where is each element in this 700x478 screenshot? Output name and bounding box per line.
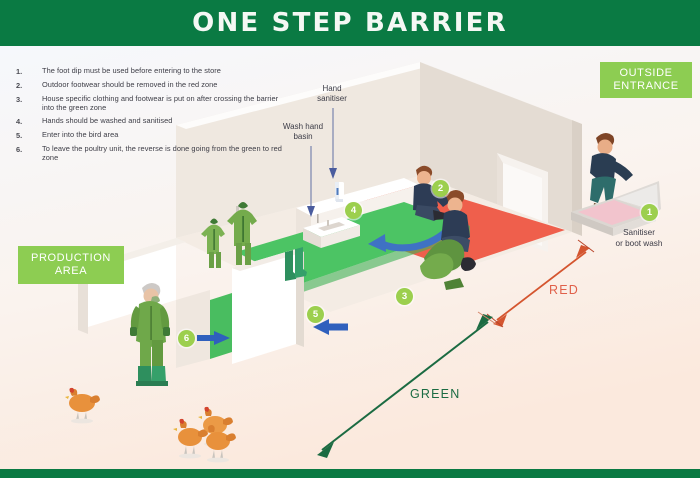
partition-left-face	[176, 290, 210, 368]
step-number: 3.	[16, 94, 42, 112]
list-item: 5. Enter into the bird area	[16, 130, 284, 140]
step-number: 1.	[16, 66, 42, 76]
list-item: 1. The foot dip must be used before ente…	[16, 66, 284, 76]
red-zone-label: RED	[549, 283, 579, 297]
wash-hand-basin-line2: basin	[272, 132, 334, 142]
barrier-door-gap	[210, 293, 232, 359]
sanitiser-boot-wash-callout: Sanitiser or boot wash	[597, 228, 681, 249]
wash-hand-basin-line1: Wash hand	[272, 122, 334, 132]
step-badge-6: 6	[178, 330, 195, 347]
outside-entrance-line1: OUTSIDE	[619, 67, 672, 80]
step-badge-4: 4	[345, 202, 362, 219]
sanitiser-boot-line1: Sanitiser	[597, 228, 681, 239]
hand-sanitiser-line2: sanitiser	[300, 94, 364, 104]
list-item: 3. House specific clothing and footwear …	[16, 94, 284, 112]
instruction-list: 1. The foot dip must be used before ente…	[16, 66, 284, 166]
step-badge-5: 5	[307, 306, 324, 323]
step-number: 6.	[16, 144, 42, 162]
list-item: 2. Outdoor footwear should be removed in…	[16, 80, 284, 90]
step-text: Outdoor footwear should be removed in th…	[42, 80, 217, 90]
outside-entrance-line2: ENTRANCE	[613, 80, 678, 93]
step-number: 5.	[16, 130, 42, 140]
step-badge-3: 3	[396, 288, 413, 305]
step-text: Hands should be washed and sanitised	[42, 116, 172, 126]
step-text: House specific clothing and footwear is …	[42, 94, 284, 112]
list-item: 6. To leave the poultry unit, the revers…	[16, 144, 284, 162]
step-number: 2.	[16, 80, 42, 90]
hand-sanitiser-dispenser-icon	[335, 182, 344, 202]
outside-entrance-label: OUTSIDE ENTRANCE	[600, 62, 692, 98]
step-text: Enter into the bird area	[42, 130, 118, 140]
hand-sanitiser-callout: Hand sanitiser	[300, 84, 364, 105]
step-number: 4.	[16, 116, 42, 126]
production-area-label: PRODUCTION AREA	[18, 246, 124, 284]
step-badge-1: 1	[641, 204, 658, 221]
hand-sanitiser-line1: Hand	[300, 84, 364, 94]
footer-bar	[0, 469, 700, 478]
sanitiser-boot-line2: or boot wash	[597, 239, 681, 250]
wash-hand-basin-callout: Wash hand basin	[272, 122, 334, 143]
step-badge-2: 2	[432, 180, 449, 197]
list-item: 4. Hands should be washed and sanitised	[16, 116, 284, 126]
step-text: The foot dip must be used before enterin…	[42, 66, 221, 76]
production-area-line2: AREA	[55, 265, 87, 278]
step-text: To leave the poultry unit, the reverse i…	[42, 144, 284, 162]
infographic-poster: ONE STEP BARRIER	[0, 0, 700, 478]
production-area-line1: PRODUCTION	[31, 252, 111, 265]
green-zone-label: GREEN	[410, 387, 460, 401]
